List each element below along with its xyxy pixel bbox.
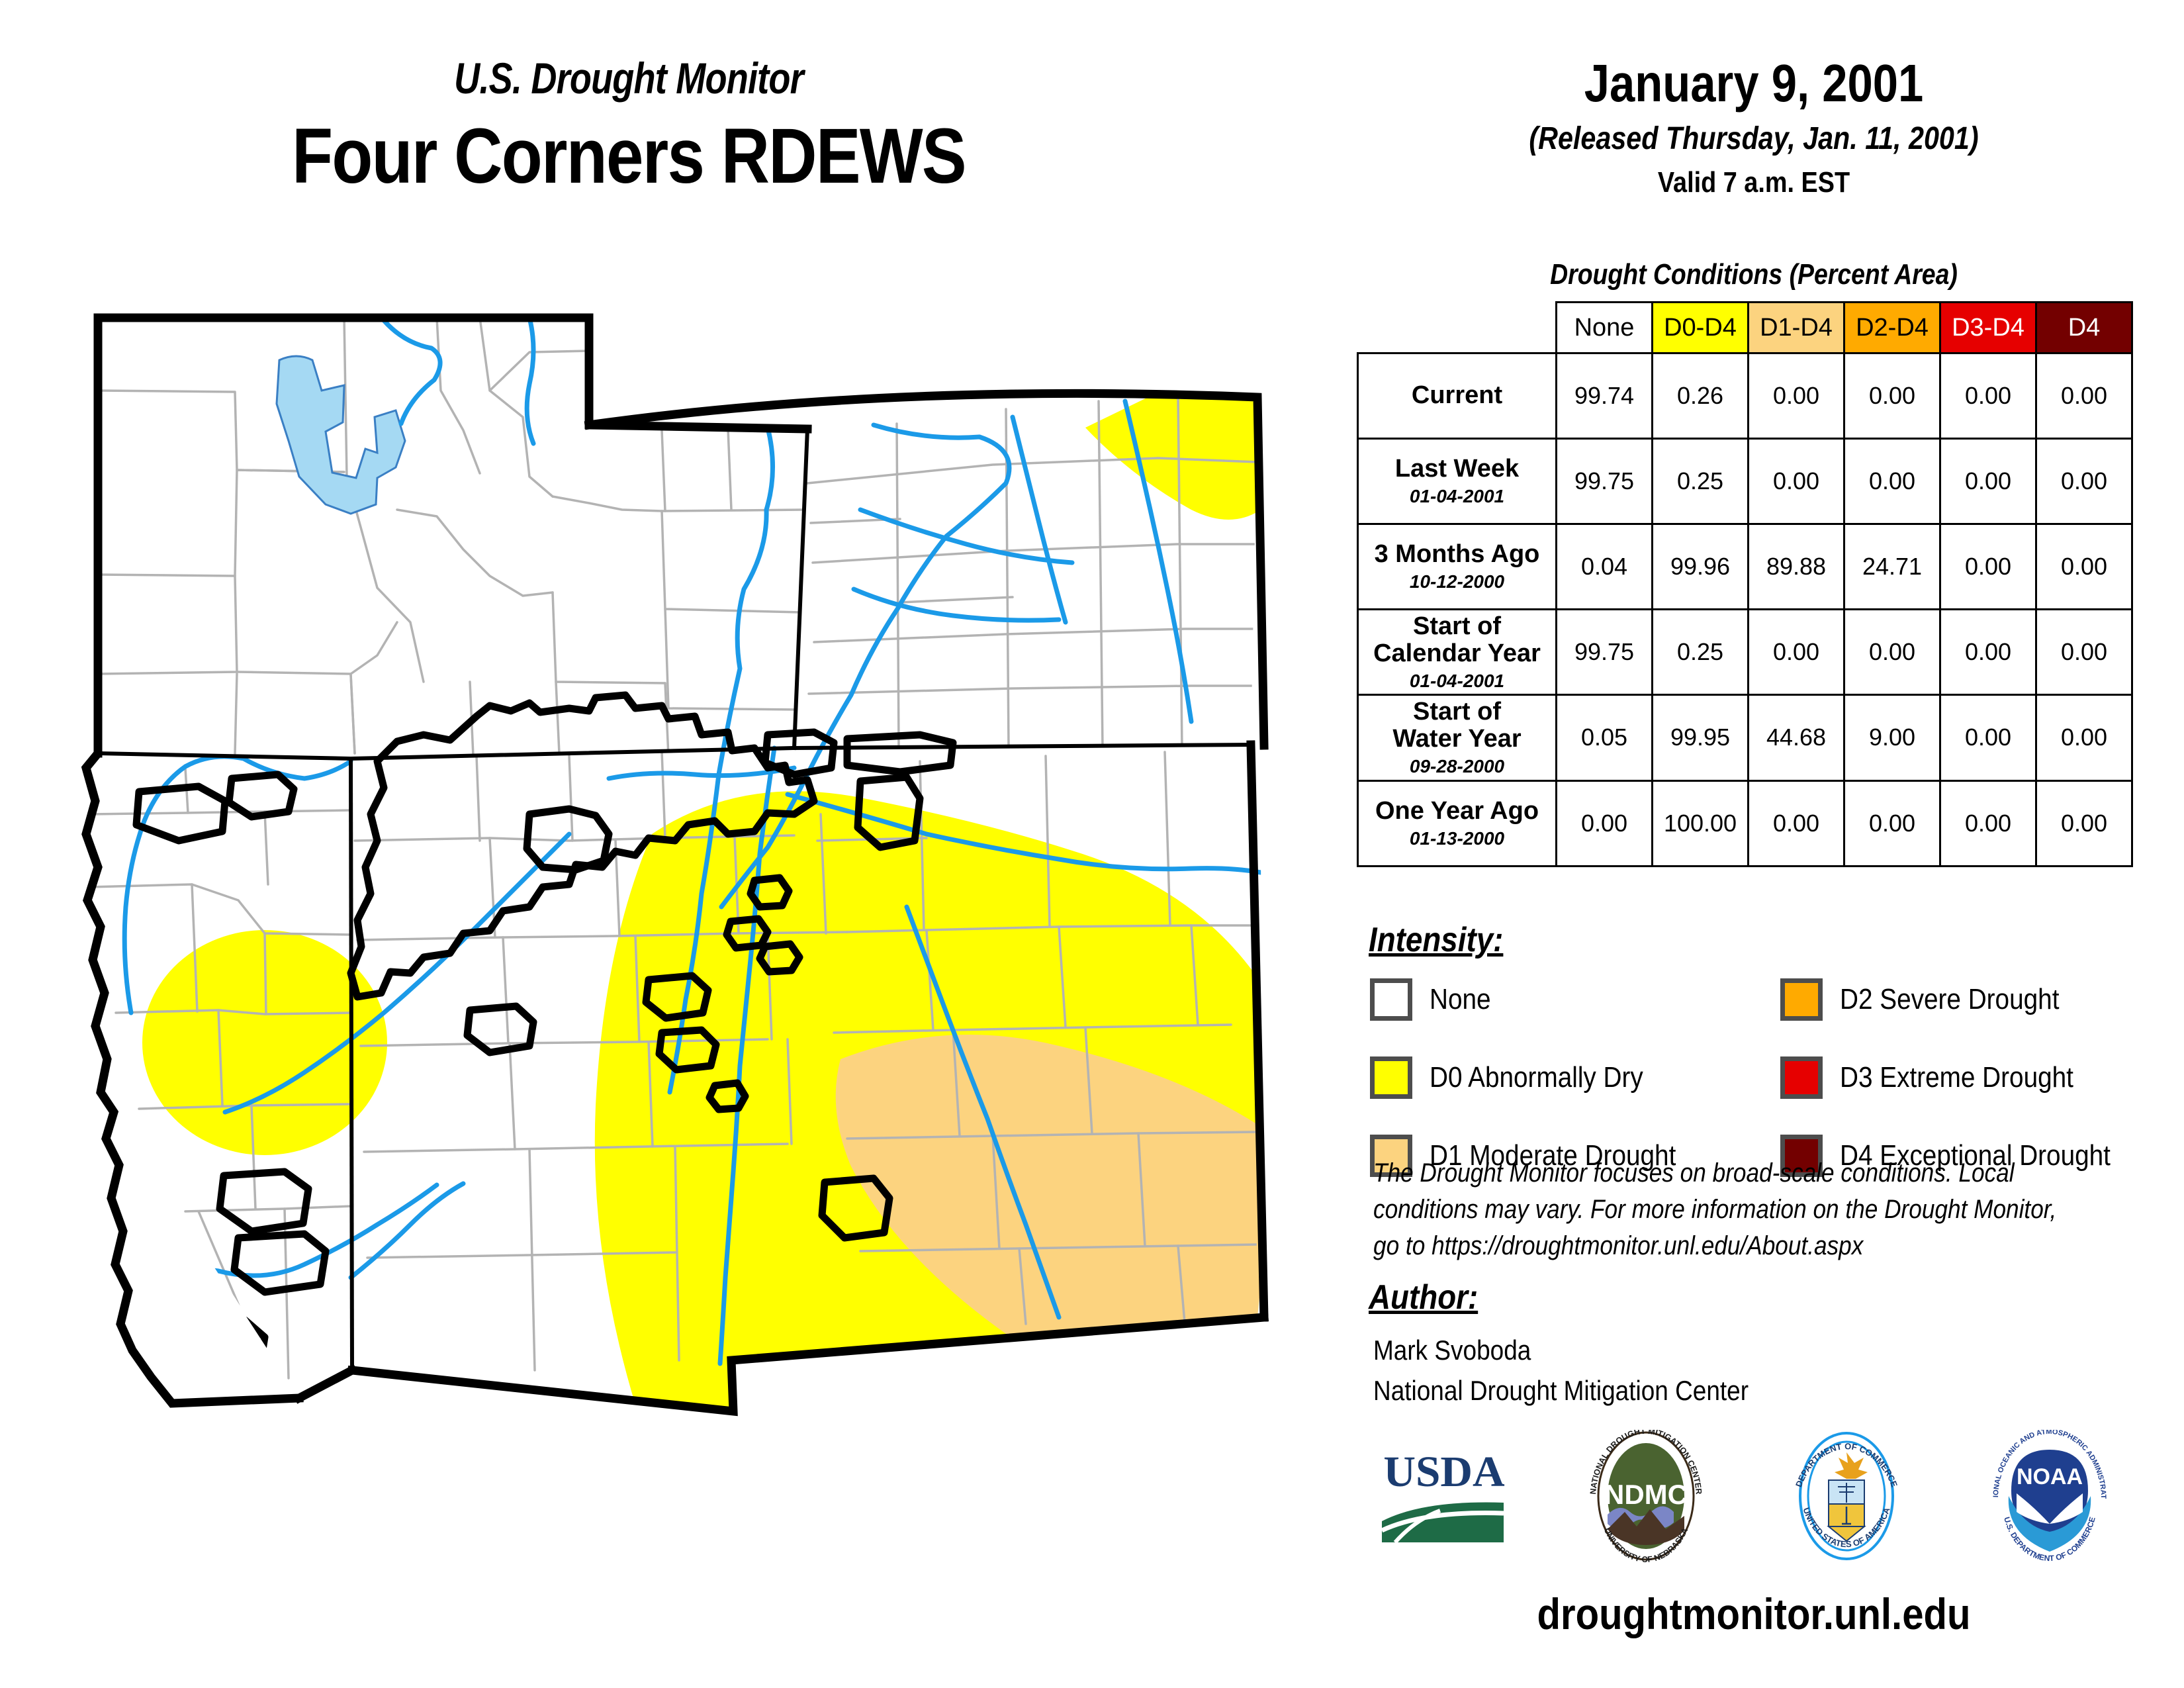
table-header-row: NoneD0-D4D1-D4D2-D4D3-D4D4 <box>1358 303 2132 353</box>
table-cell-value: 99.74 <box>1557 353 1653 439</box>
table-row: Current99.740.260.000.000.000.00 <box>1358 353 2132 439</box>
table-row: Start ofWater Year09-28-20000.0599.9544.… <box>1358 695 2132 780</box>
table-cell-value: 0.00 <box>1940 524 2036 610</box>
table-cell-value: 0.26 <box>1653 353 1749 439</box>
svg-text:NOAA: NOAA <box>2017 1464 2083 1489</box>
table-row-sublabel: 09-28-2000 <box>1363 757 1551 776</box>
disclaimer-text: The Drought Monitor focuses on broad-sca… <box>1373 1155 2072 1265</box>
table-cell-value: 0.00 <box>2036 439 2132 524</box>
table-row-label: Current <box>1358 353 1557 439</box>
table-row: Last Week01-04-200199.750.250.000.000.00… <box>1358 439 2132 524</box>
table-cell-value: 0.00 <box>1749 610 1844 695</box>
table-cell-value: 0.00 <box>1749 439 1844 524</box>
intensity-heading: Intensity: <box>1369 920 1503 960</box>
table-cell-value: 99.95 <box>1653 695 1749 780</box>
table-cell-value: 0.00 <box>1940 439 2036 524</box>
table-cell-value: 0.25 <box>1653 439 1749 524</box>
table-cell-value: 0.00 <box>2036 610 2132 695</box>
legend-label: None <box>1430 983 1491 1016</box>
page-subtitle: U.S. Drought Monitor <box>113 53 1144 103</box>
table-cell-value: 0.00 <box>1749 353 1844 439</box>
border-arizona-newmexico <box>351 759 352 1370</box>
table-row-label: Start ofCalendar Year01-04-2001 <box>1358 610 1557 695</box>
table-row-sublabel: 01-04-2001 <box>1363 487 1551 506</box>
svg-text:NDMC: NDMC <box>1604 1479 1688 1510</box>
table-col-header-d1-d4: D1-D4 <box>1749 303 1844 353</box>
table-cell-value: 89.88 <box>1749 524 1844 610</box>
table-col-header-d4: D4 <box>2036 303 2132 353</box>
legend-swatch <box>1780 978 1823 1021</box>
usda-logo: USDA <box>1377 1436 1509 1559</box>
table-col-header-d3-d4: D3-D4 <box>1940 303 2036 353</box>
table-row-sublabel: 01-13-2000 <box>1363 829 1551 849</box>
author-heading: Author: <box>1369 1278 1478 1317</box>
table-cell-value: 0.00 <box>1940 610 2036 695</box>
table-cell-value: 100.00 <box>1653 780 1749 866</box>
table-cell-value: 0.00 <box>2036 524 2132 610</box>
table-cell-value: 0.00 <box>1557 780 1653 866</box>
table-col-header-d0-d4: D0-D4 <box>1653 303 1749 353</box>
valid-time: Valid 7 a.m. EST <box>1430 166 2078 199</box>
table-row-label: One Year Ago01-13-2000 <box>1358 780 1557 866</box>
table-col-header-d2-d4: D2-D4 <box>1844 303 1940 353</box>
table-caption: Drought Conditions (Percent Area) <box>1433 258 2075 291</box>
table-row-label: 3 Months Ago10-12-2000 <box>1358 524 1557 610</box>
table-cell-value: 0.25 <box>1653 610 1749 695</box>
table-row-sublabel: 01-04-2001 <box>1363 671 1551 691</box>
table-cell-value: 24.71 <box>1844 524 1940 610</box>
legend-item: None <box>1370 973 1709 1026</box>
table-cell-value: 0.00 <box>1940 780 2036 866</box>
author-name: Mark Svoboda <box>1373 1331 1749 1371</box>
table-cell-value: 0.00 <box>2036 353 2132 439</box>
table-cell-value: 0.00 <box>1940 695 2036 780</box>
date-block: January 9, 2001 (Released Thursday, Jan.… <box>1377 53 2131 199</box>
table-cell-value: 9.00 <box>1844 695 1940 780</box>
ndmc-logo: NDMC NATIONAL DROUGHT MITIGATION CENTER … <box>1580 1430 1712 1566</box>
title-block: U.S. Drought Monitor Four Corners RDEWS <box>0 53 1257 201</box>
table-row: One Year Ago01-13-20000.00100.000.000.00… <box>1358 780 2132 866</box>
legend-label: D3 Extreme Drought <box>1840 1061 2073 1094</box>
table-cell-value: 0.00 <box>1844 780 1940 866</box>
drought-map <box>66 311 1297 1569</box>
table-cell-value: 0.00 <box>1940 353 2036 439</box>
author-block: Mark Svoboda National Drought Mitigation… <box>1373 1331 1749 1411</box>
table-cell-value: 0.00 <box>1844 610 1940 695</box>
table-row-sublabel: 10-12-2000 <box>1363 572 1551 592</box>
noaa-logo: NOAA NATIONAL OCEANIC AND ATMOSPHERIC AD… <box>1982 1430 2118 1566</box>
release-date: (Released Thursday, Jan. 11, 2001) <box>1430 120 2078 157</box>
table-col-header-none: None <box>1557 303 1653 353</box>
table-row: 3 Months Ago10-12-20000.0499.9689.8824.7… <box>1358 524 2132 610</box>
legend-label: D0 Abnormally Dry <box>1430 1061 1643 1094</box>
legend-item: D2 Severe Drought <box>1780 973 2148 1026</box>
table-cell-value: 0.00 <box>2036 695 2132 780</box>
table-cell-value: 0.00 <box>2036 780 2132 866</box>
table-cell-value: 0.04 <box>1557 524 1653 610</box>
table-cell-value: 0.05 <box>1557 695 1653 780</box>
table-cell-value: 0.00 <box>1844 353 1940 439</box>
table-row-label: Start ofWater Year09-28-2000 <box>1358 695 1557 780</box>
table-cell-value: 99.75 <box>1557 439 1653 524</box>
table-row-label: Last Week01-04-2001 <box>1358 439 1557 524</box>
table-row: Start ofCalendar Year01-04-200199.750.25… <box>1358 610 2132 695</box>
legend-item: D0 Abnormally Dry <box>1370 1051 1709 1104</box>
doc-logo: DEPARTMENT OF COMMERCE UNITED STATES OF … <box>1782 1430 1911 1566</box>
valid-date: January 9, 2001 <box>1430 53 2078 114</box>
legend-swatch <box>1370 978 1412 1021</box>
svg-text:USDA: USDA <box>1383 1448 1504 1496</box>
website-url: droughtmonitor.unl.edu <box>1422 1589 2085 1639</box>
legend-swatch <box>1780 1056 1823 1099</box>
drought-conditions-table: NoneD0-D4D1-D4D2-D4D3-D4D4 Current99.740… <box>1357 301 2133 867</box>
table-cell-value: 44.68 <box>1749 695 1844 780</box>
legend-label: D2 Severe Drought <box>1840 983 2059 1016</box>
page-title: Four Corners RDEWS <box>88 111 1169 201</box>
table-cell-value: 0.00 <box>1749 780 1844 866</box>
table-cell-value: 99.75 <box>1557 610 1653 695</box>
table-corner-cell <box>1358 303 1557 353</box>
logo-row: USDA NDMC NATIONAL DROUGHT MITIGATION CE… <box>1377 1430 2118 1566</box>
table-cell-value: 0.00 <box>1844 439 1940 524</box>
legend-item: D3 Extreme Drought <box>1780 1051 2148 1104</box>
author-affiliation: National Drought Mitigation Center <box>1373 1371 1749 1411</box>
legend-swatch <box>1370 1056 1412 1099</box>
table-cell-value: 99.96 <box>1653 524 1749 610</box>
